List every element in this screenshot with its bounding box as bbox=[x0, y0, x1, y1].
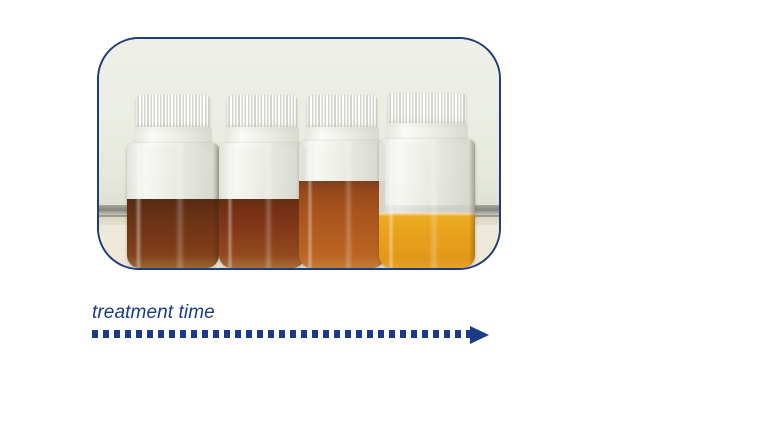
figure-photo-frame bbox=[97, 37, 501, 270]
bottle-sediment bbox=[127, 256, 219, 268]
bottle-3 bbox=[299, 95, 385, 268]
treatment-time-label: treatment time bbox=[92, 303, 512, 322]
caption-block: treatment time bbox=[92, 303, 512, 322]
bottle-liquid bbox=[379, 213, 475, 268]
glass-edge-shade bbox=[469, 139, 475, 268]
bottle-1 bbox=[127, 95, 219, 268]
bottle-body bbox=[379, 139, 475, 268]
bottle-sediment bbox=[379, 260, 475, 268]
bottle-2 bbox=[219, 95, 305, 268]
bottle-cap bbox=[136, 95, 210, 130]
bottle-photo bbox=[99, 39, 499, 268]
bottle-headspace bbox=[219, 143, 305, 201]
bottle-body bbox=[299, 141, 385, 268]
bottle-cap bbox=[307, 95, 377, 130]
bottle-headspace bbox=[127, 143, 219, 201]
bottle-sediment bbox=[219, 256, 305, 268]
bottle-headspace bbox=[379, 139, 475, 217]
bottle-headspace bbox=[299, 141, 385, 183]
bottle-liquid bbox=[219, 199, 305, 268]
bottle-body bbox=[219, 143, 305, 268]
arrow-head-icon bbox=[470, 326, 489, 344]
treatment-time-arrow bbox=[92, 326, 502, 344]
liquid-surface-shade bbox=[299, 181, 385, 191]
bottle-liquid bbox=[299, 181, 385, 268]
liquid-meniscus bbox=[379, 213, 475, 216]
bottle-body bbox=[127, 143, 219, 268]
liquid-surface-shade bbox=[127, 199, 219, 209]
bottle-sediment bbox=[299, 256, 385, 268]
bottle-liquid bbox=[127, 199, 219, 268]
bottle-cap bbox=[227, 95, 297, 130]
arrow-dotted-line bbox=[92, 330, 474, 338]
bottle-cap bbox=[388, 93, 466, 126]
bottle-4 bbox=[379, 93, 475, 268]
liquid-surface-shade bbox=[219, 199, 305, 209]
